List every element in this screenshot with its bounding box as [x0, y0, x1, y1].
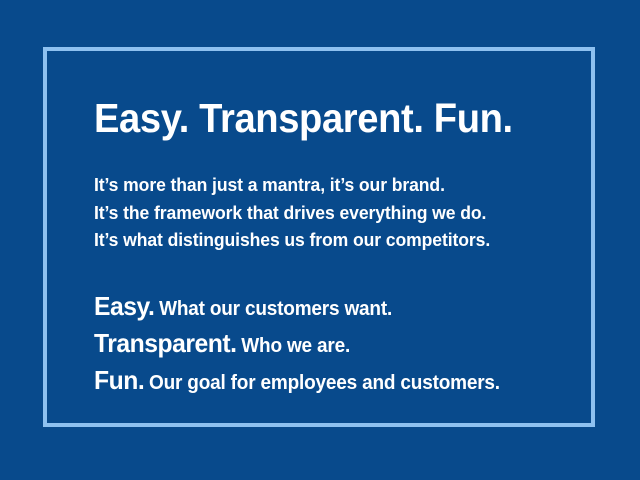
- definition-term: Fun.: [94, 365, 144, 395]
- slide-canvas: Easy. Transparent. Fun. It’s more than j…: [0, 0, 640, 480]
- body-line: It’s what distinguishes us from our comp…: [94, 226, 541, 254]
- body-line: It’s more than just a mantra, it’s our b…: [94, 171, 541, 199]
- definition-term: Easy.: [94, 291, 154, 321]
- definition-description: Who we are.: [241, 335, 350, 357]
- list-item: Transparent.Who we are.: [94, 327, 541, 364]
- definition-description: What our customers want.: [159, 298, 392, 320]
- page-title: Easy. Transparent. Fun.: [94, 96, 531, 140]
- definition-list: Easy.What our customers want. Transparen…: [94, 290, 564, 401]
- list-item: Easy.What our customers want.: [94, 290, 541, 327]
- definition-description: Our goal for employees and customers.: [149, 372, 500, 394]
- list-item: Fun.Our goal for employees and customers…: [94, 364, 541, 401]
- slide-content: Easy. Transparent. Fun. It’s more than j…: [94, 96, 564, 401]
- body-line: It’s the framework that drives everythin…: [94, 199, 541, 227]
- body-paragraph: It’s more than just a mantra, it’s our b…: [94, 171, 564, 254]
- definition-term: Transparent.: [94, 328, 237, 358]
